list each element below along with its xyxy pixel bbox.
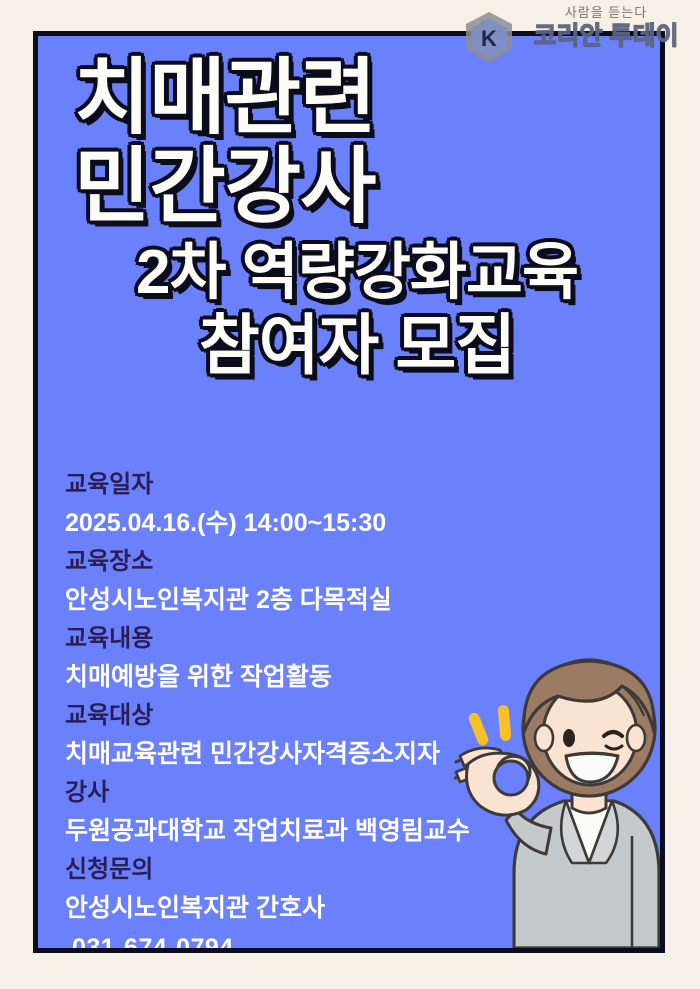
headline-line-3: 2차 역량강화교육 [38, 242, 665, 304]
detail-group-content: 교육내용 치매예방을 위한 작업활동 [65, 620, 665, 697]
detail-label-content: 교육내용 [65, 620, 665, 657]
headline-line-2: 민간강사 [38, 145, 665, 228]
detail-label-instructor: 강사 [65, 774, 665, 811]
poster-panel: 치매관련 민간강사 2차 역량강화교육 참여자 모집 교육일자 2025.04.… [33, 31, 665, 953]
detail-group-location: 교육장소 안성시노인복지관 2층 다목적실 [65, 543, 665, 620]
detail-group-date: 교육일자 2025.04.16.(수) 14:00~15:30 [65, 466, 665, 543]
detail-group-instructor: 강사 두원공과대학교 작업치료과 백영림교수 [65, 774, 665, 851]
detail-value-date: 2025.04.16.(수) 14:00~15:30 [65, 503, 665, 543]
detail-label-audience: 교육대상 [65, 697, 665, 734]
logo-tagline: 사람을 듣는다 [518, 4, 694, 21]
poster-headline: 치매관련 민간강사 2차 역량강화교육 참여자 모집 [38, 56, 665, 378]
detail-label-location: 교육장소 [65, 543, 665, 580]
detail-value-audience: 치매교육관련 민간강사자격증소지자 [65, 734, 665, 774]
headline-line-1: 치매관련 [38, 56, 665, 139]
headline-line-4: 참여자 모집 [38, 312, 665, 378]
detail-group-inquiry: 신청문의 안성시노인복지관 간호사 031-674-0794 [65, 851, 665, 953]
detail-group-audience: 교육대상 치매교육관련 민간강사자격증소지자 [65, 697, 665, 774]
detail-value-inquiry-office: 안성시노인복지관 간호사 [65, 888, 665, 928]
detail-value-location: 안성시노인복지관 2층 다목적실 [65, 580, 665, 620]
detail-label-inquiry: 신청문의 [65, 851, 665, 888]
detail-value-instructor: 두원공과대학교 작업치료과 백영림교수 [65, 811, 665, 851]
poster-details: 교육일자 2025.04.16.(수) 14:00~15:30 교육장소 안성시… [65, 466, 665, 953]
detail-label-date: 교육일자 [65, 466, 665, 503]
detail-value-content: 치매예방을 위한 작업활동 [65, 657, 665, 697]
detail-value-inquiry-phone: 031-674-0794 [65, 928, 665, 953]
